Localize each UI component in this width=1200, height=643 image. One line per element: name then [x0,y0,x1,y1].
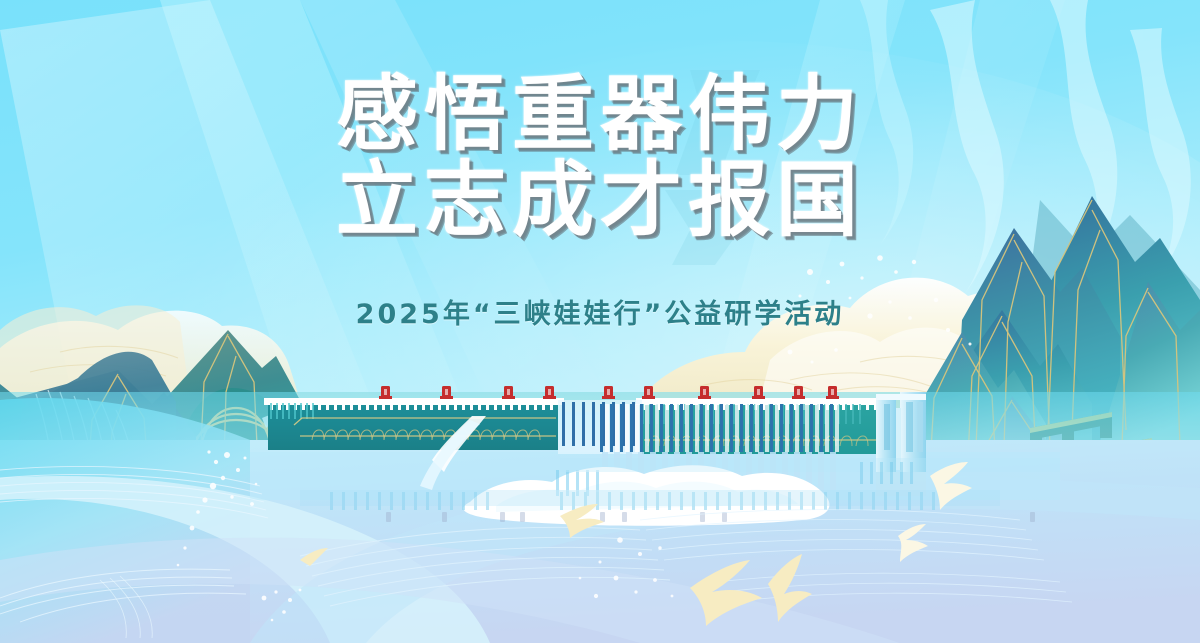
title-line-1: 感悟重器伟力 [0,72,1200,158]
poster-banner: 感悟重器伟力 立志成才报国 2025年“三峡娃娃行”公益研学活动 [0,0,1200,643]
white-birds [898,462,972,562]
poster-subtitle: 2025年“三峡娃娃行”公益研学活动 [0,292,1200,331]
title-line-2: 立志成才报国 [0,158,1200,244]
poster-title: 感悟重器伟力 立志成才报国 [0,72,1200,244]
